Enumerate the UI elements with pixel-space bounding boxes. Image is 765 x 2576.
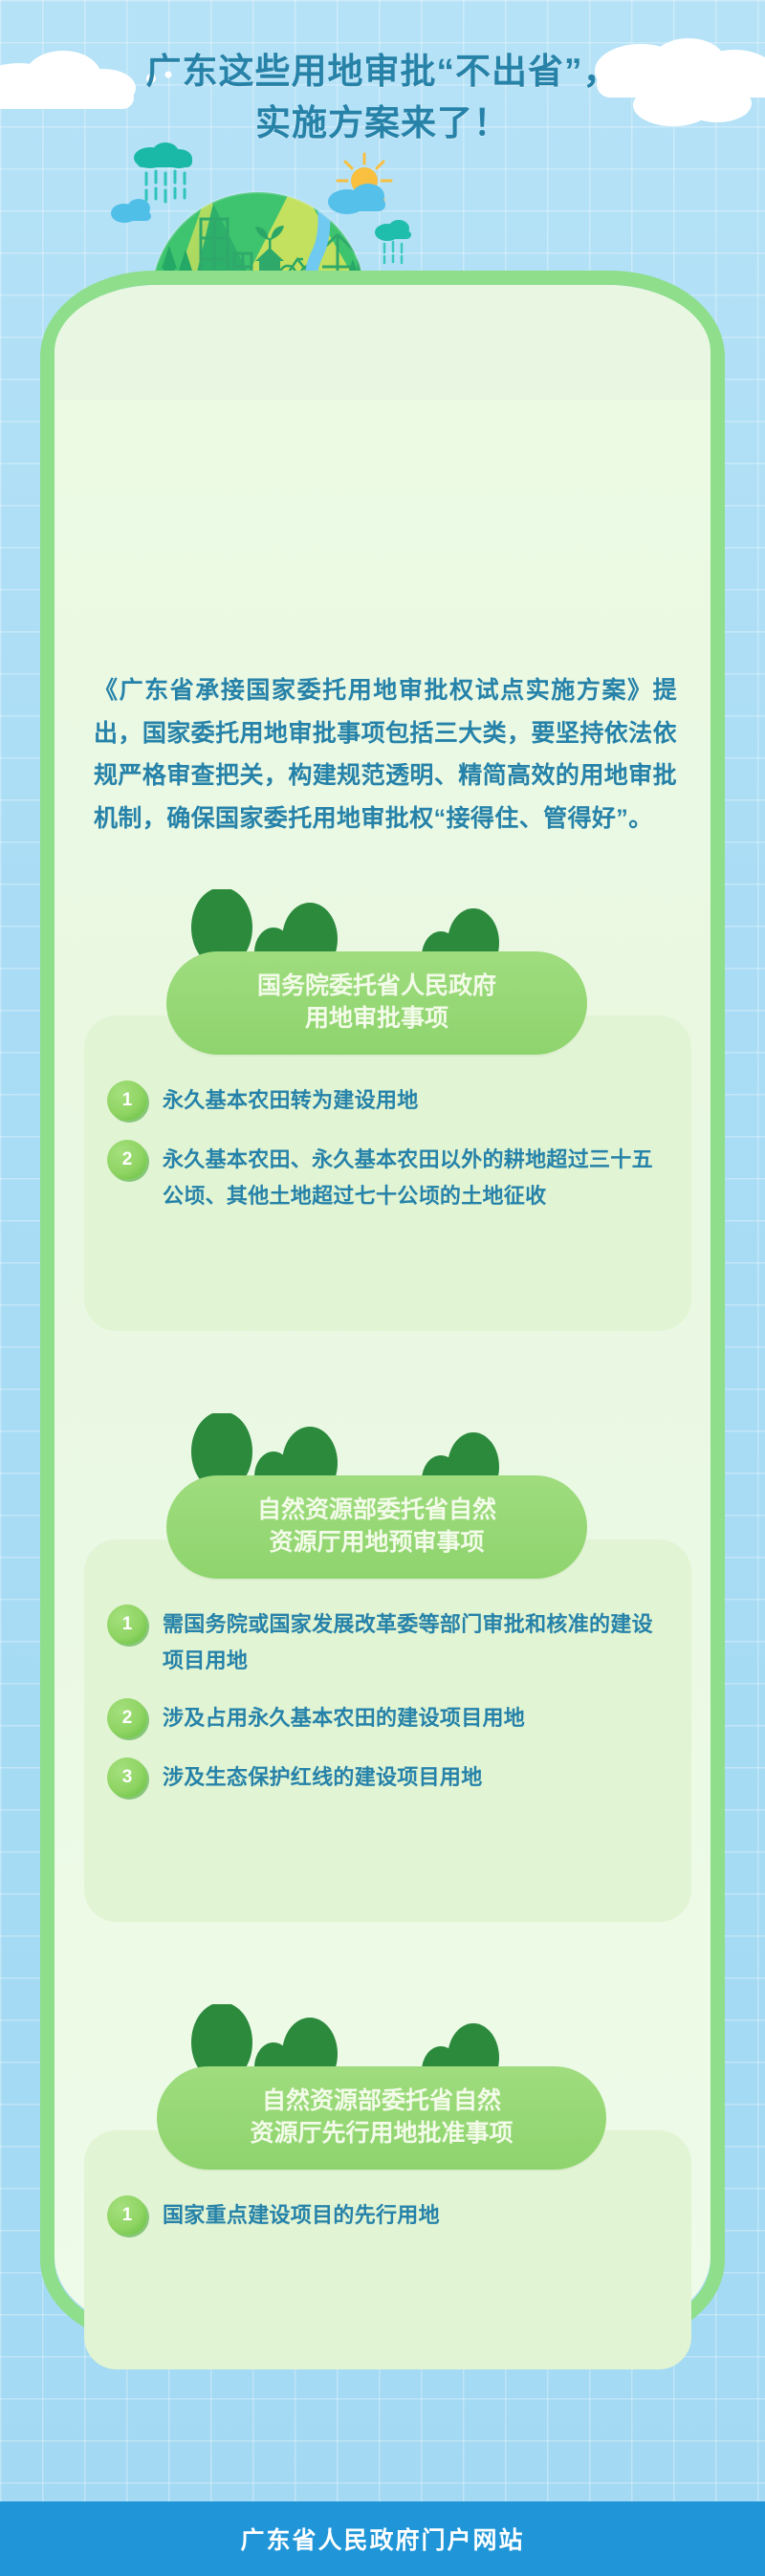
- section-3-heading-line-2: 资源厅先行用地批准事项: [250, 2120, 513, 2147]
- section-1-heading-line-1: 国务院委托省人民政府: [257, 972, 496, 999]
- footer-bar: 广东省人民政府门户网站: [0, 2501, 765, 2576]
- content-card-top: [55, 285, 710, 400]
- item-text: 需国务院或国家发展改革委等部门审批和核准的建设项目用地: [163, 1603, 671, 1679]
- intro-paragraph: 《广东省承接国家委托用地审批权试点实施方案》提出，国家委托用地审批事项包括三大类…: [94, 669, 677, 840]
- section-2-heading: 自然资源部委托省自然 资源厅用地预审事项: [166, 1475, 587, 1579]
- item-text: 国家重点建设项目的先行用地: [163, 2194, 440, 2234]
- list-item: 2 永久基本农田、永久基本农田以外的耕地超过三十五公顷、其他土地超过七十公顷的土…: [107, 1138, 671, 1214]
- section-2-items: 1 需国务院或国家发展改革委等部门审批和核准的建设项目用地 2 涉及占用永久基本…: [107, 1603, 671, 1815]
- item-text: 永久基本农田转为建设用地: [163, 1079, 419, 1119]
- section-1-heading-line-2: 用地审批事项: [305, 1005, 448, 1032]
- item-text: 涉及生态保护红线的建设项目用地: [163, 1756, 483, 1796]
- section-2-heading-line-2: 资源厅用地预审事项: [269, 1529, 484, 1556]
- section-3-items: 1 国家重点建设项目的先行用地: [107, 2194, 671, 2253]
- item-number-badge: 2: [107, 1698, 147, 1738]
- cloud-icon-small: [111, 199, 151, 223]
- list-item: 1 永久基本农田转为建设用地: [107, 1079, 671, 1121]
- cloud-icon-medium: [328, 184, 385, 214]
- item-number-badge: 1: [107, 1605, 147, 1645]
- page-title-line-1: 广东这些用地审批“不出省”，: [146, 52, 620, 91]
- list-item: 2 涉及占用永久基本农田的建设项目用地: [107, 1696, 671, 1738]
- section-1-items: 1 永久基本农田转为建设用地 2 永久基本农田、永久基本农田以外的耕地超过三十五…: [107, 1079, 671, 1232]
- section-1-heading: 国务院委托省人民政府 用地审批事项: [166, 951, 587, 1055]
- item-text: 永久基本农田、永久基本农田以外的耕地超过三十五公顷、其他土地超过七十公顷的土地征…: [163, 1138, 671, 1214]
- item-number-badge: 3: [107, 1757, 147, 1798]
- list-item: 1 需国务院或国家发展改革委等部门审批和核准的建设项目用地: [107, 1603, 671, 1679]
- section-3-heading-line-1: 自然资源部委托省自然: [262, 2087, 501, 2114]
- item-number-badge: 1: [107, 1081, 147, 1121]
- list-item: 3 涉及生态保护红线的建设项目用地: [107, 1756, 671, 1798]
- footer-label: 广东省人民政府门户网站: [240, 2521, 524, 2556]
- item-number-badge: 2: [107, 1140, 147, 1180]
- item-text: 涉及占用永久基本农田的建设项目用地: [163, 1696, 525, 1736]
- rain-cloud-icon-1: [134, 142, 192, 202]
- rain-cloud-icon-2: [375, 220, 411, 263]
- list-item: 1 国家重点建设项目的先行用地: [107, 2194, 671, 2236]
- section-3-heading: 自然资源部委托省自然 资源厅先行用地批准事项: [157, 2066, 606, 2170]
- page-title: 广东这些用地审批“不出省”， 实施方案来了！: [0, 46, 765, 148]
- item-number-badge: 1: [107, 2195, 147, 2236]
- section-2-heading-line-1: 自然资源部委托省自然: [257, 1496, 496, 1523]
